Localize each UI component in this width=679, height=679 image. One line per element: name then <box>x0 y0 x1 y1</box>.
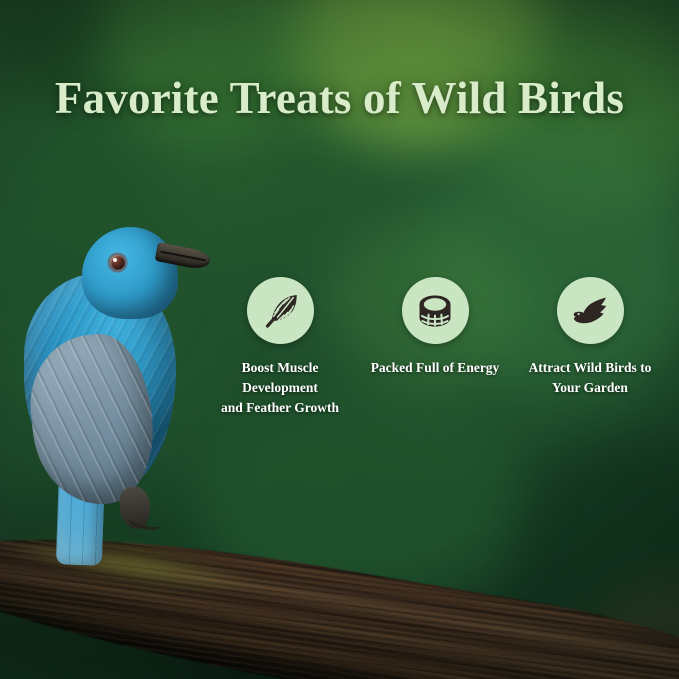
feature-icon-badge <box>557 277 624 344</box>
feature-item-energy: Packed Full of Energy <box>360 277 510 378</box>
feature-icon-badge <box>247 277 314 344</box>
feature-item-muscle-development: Boost Muscle Development and Feather Gro… <box>205 277 355 418</box>
feature-item-attract-birds: Attract Wild Birds to Your Garden <box>515 277 665 398</box>
feature-label: Boost Muscle Development and Feather Gro… <box>205 358 355 418</box>
suet-cake-icon <box>415 291 455 331</box>
feather-icon <box>260 291 300 331</box>
page-title: Favorite Treats of Wild Birds <box>0 72 679 124</box>
feature-label: Packed Full of Energy <box>360 358 510 378</box>
feature-icon-badge <box>402 277 469 344</box>
feature-label: Attract Wild Birds to Your Garden <box>516 358 664 398</box>
flying-bird-icon <box>570 291 610 331</box>
feature-list: Boost Muscle Development and Feather Gro… <box>205 277 665 418</box>
promo-image: Favorite Treats of Wild Birds <box>0 0 679 679</box>
